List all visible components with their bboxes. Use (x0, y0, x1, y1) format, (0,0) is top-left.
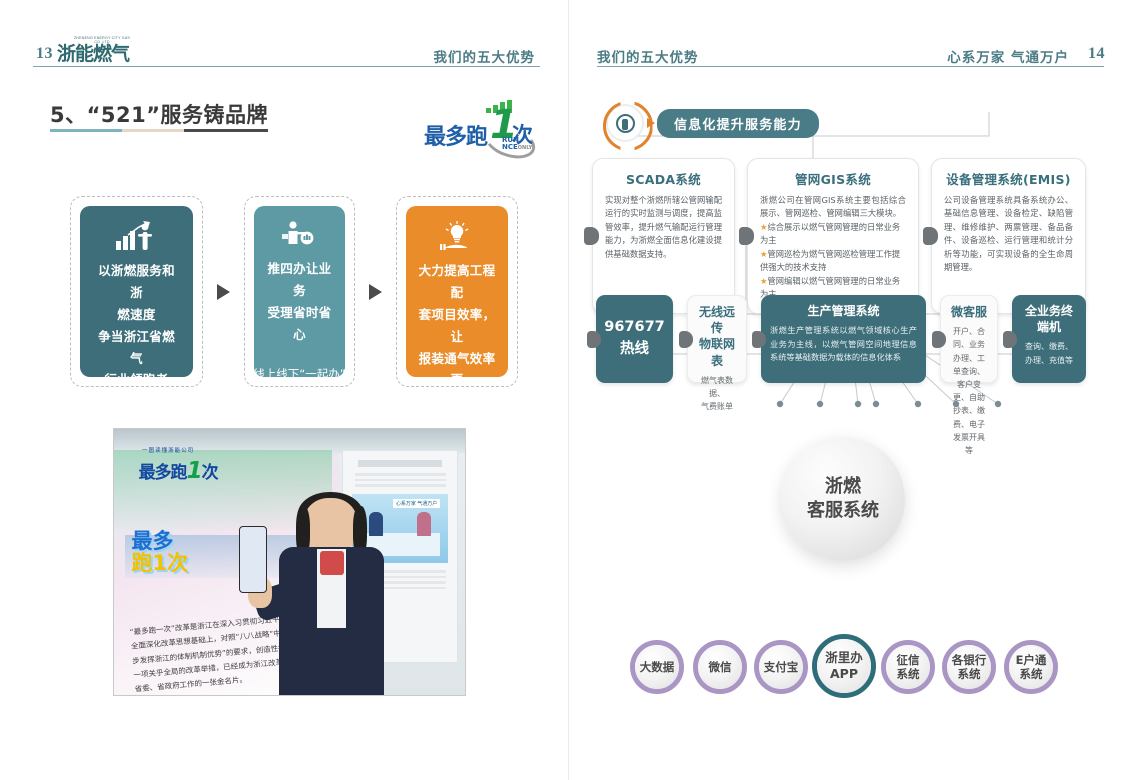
leaf-node-ehutong-label: E户通 系统 (1016, 653, 1047, 682)
card-tab-icon (923, 227, 938, 245)
hub-circle: 浙燃 客服系统 (781, 437, 905, 561)
card-tab-icon (1003, 331, 1017, 348)
mid-card-terminal-body: 查询、缴费、 办理、充值等 (1021, 340, 1077, 366)
iot-title-line2: 物联网表 (697, 336, 737, 368)
hub-line-2: 客服系统 (807, 500, 879, 521)
iot-body-line2: 气费账单 (701, 402, 733, 411)
service-person-icon (280, 220, 320, 250)
photo-staff-person (272, 498, 391, 695)
gis-bullet-2: 管网巡检为燃气管网巡检管理工作提供强大的技术支持 (760, 249, 900, 272)
leaf-node-bigdata-inner: 大数据 (635, 645, 679, 689)
hub-line-1: 浙燃 (825, 476, 861, 497)
mid-card-production[interactable]: 生产管理系统 浙燃生产管理系统以燃气领域核心生产业务为主线，以燃气管网空间地理信… (761, 295, 926, 383)
card-tab-icon (584, 227, 599, 245)
leaf-node-zhelib[interactable]: 浙里办 APP (812, 634, 876, 698)
mid-card-terminal-title: 全业务终端机 (1021, 303, 1077, 335)
card-1-head-line-3: 争当浙江省燃气 (92, 326, 181, 370)
leaf-node-banks-label: 各银行 系统 (952, 653, 987, 682)
arrow-2-icon (369, 284, 382, 300)
photo-banner-ci: 次 (202, 463, 218, 483)
leaf-node-alipay[interactable]: 支付宝 (754, 640, 808, 694)
photo-banner2-line1: 最多 (132, 530, 189, 552)
photo-banner-second: 最多 跑1次 (132, 530, 189, 574)
leaf-node-banks-inner: 各银行 系统 (947, 645, 991, 689)
ehutong-line1: E户通 (1016, 653, 1047, 667)
system-card-emis-title: 设备管理系统(EMIS) (944, 169, 1073, 188)
leaf-node-credit[interactable]: 征信 系统 (881, 640, 935, 694)
left-page: 13 ZHENENG ENERGY CITY GAS CO. LTD 浙能燃气 … (0, 0, 568, 780)
leaf-node-zhelib-label: 浙里办 APP (825, 650, 863, 681)
company-logo: ZHENENG ENERGY CITY GAS CO. LTD 浙能燃气 (57, 36, 137, 66)
leaf-node-ehutong[interactable]: E户通 系统 (1004, 640, 1058, 694)
system-card-gis-title: 管网GIS系统 (760, 169, 906, 188)
iot-title-line1: 无线远传 (697, 304, 737, 336)
touch-target-icon (606, 104, 644, 142)
system-card-scada-body: 实现对整个浙燃所辖公管网输配运行的实时监测与调度，提高监管效率，提升燃气输配运行… (605, 194, 722, 261)
zhelib-line2: APP (830, 666, 858, 681)
card-2-body-line-3: 申请通气“马上办” (253, 407, 345, 429)
left-header-title: 我们的五大优势 (434, 46, 536, 66)
advantage-cards: 以浙燃服务和浙 燃速度 争当浙江省燃气 行业领跑者 (70, 196, 518, 387)
arrow-1-icon (217, 284, 230, 300)
mid-card-iot-meter[interactable]: 无线远传 物联网表 燃气表数据、 气费账单 (687, 295, 747, 383)
system-card-gis-bullet: ★综合展示以燃气管网管理的日常业务为主 (760, 221, 906, 248)
left-header-rule (33, 66, 540, 67)
mid-card-hotline[interactable]: 967677 热线 (596, 295, 673, 383)
iot-body-line1: 燃气表数据、 (701, 376, 733, 398)
card-3-head-line-2: 套项目效率，让 (418, 304, 496, 348)
gis-bullet-1: 综合展示以燃气管网管理的日常业务为主 (760, 222, 900, 245)
lightbulb-hand-icon (437, 220, 477, 252)
photo-banner2-line2: 跑1次 (132, 552, 189, 574)
card-2-head-line-1: 推四办让业务 (266, 258, 333, 302)
card-2-heading: 推四办让业务 受理省时省心 (266, 258, 333, 346)
run-once-en: RUN NCEONLY (502, 137, 532, 152)
leaf-node-zhelib-inner: 浙里办 APP (817, 639, 871, 693)
photo-board-line (355, 479, 446, 482)
mid-card-production-title: 生产管理系统 (770, 303, 917, 319)
photo-person-head (303, 498, 358, 553)
terminal-body-line2: 办理、充值等 (1025, 356, 1073, 365)
card-1-head-line-1: 以浙燃服务和浙 (92, 260, 181, 304)
photo-board-person-2 (417, 512, 430, 536)
card-3: 大力提高工程配 套项目效率，让 报装通气效率更 高，着力优化营 商环境 (406, 206, 508, 377)
photo-person-scarf (320, 551, 344, 575)
right-header-rule (597, 66, 1104, 67)
mid-card-production-body: 浙燃生产管理系统以燃气领域核心生产业务为主线，以燃气管网空间地理信息系统等基础数… (770, 324, 917, 365)
photo-banner-one: 1 (187, 458, 202, 484)
section-underline-dark (184, 129, 268, 132)
card-1-head-line-4: 行业领跑者 (92, 369, 181, 391)
right-header-right-title: 心系万家 气通万户 (947, 46, 1069, 66)
system-card-scada-title: SCADA系统 (605, 169, 722, 188)
leaf-node-bigdata-label: 大数据 (640, 660, 675, 674)
credit-line2: 系统 (897, 667, 920, 681)
credit-line1: 征信 (897, 653, 920, 667)
zhelib-line1: 浙里办 (825, 650, 863, 665)
hotline-word: 热线 (604, 339, 665, 361)
photo-board-line (355, 484, 446, 487)
run-once-logo: 最多跑 1 次 RUN NCEONLY (424, 97, 540, 159)
card-3-head-line-1: 大力提高工程配 (418, 260, 496, 304)
card-3-wrapper: 大力提高工程配 套项目效率，让 报装通气效率更 高，着力优化营 商环境 (396, 196, 518, 387)
card-1-wrapper: 以浙燃服务和浙 燃速度 争当浙江省燃气 行业领跑者 (70, 196, 203, 387)
card-1-heading: 以浙燃服务和浙 燃速度 争当浙江省燃气 行业领跑者 (92, 260, 181, 391)
leaf-node-credit-label: 征信 系统 (897, 653, 920, 682)
leaf-node-credit-inner: 征信 系统 (886, 645, 930, 689)
card-2: 推四办让业务 受理省时省心 线上线下“一起办” 业务受理“一证办” 申请通气“马… (254, 206, 345, 377)
system-card-emis[interactable]: 设备管理系统(EMIS) 公司设备管理系统具备系统办公、基础信息管理、设备检定、… (931, 158, 1086, 314)
touch-target-inner-icon (616, 114, 635, 133)
mid-card-wechat-service[interactable]: 微客服 开户、合同、业务办理、工单查询、客户变更、自助抄表、缴费、电子发票开具等 (940, 295, 998, 383)
left-page-number: 13 (36, 45, 53, 63)
promotional-photo: 一图读懂浙能公司 最多跑1次 最多 跑1次 “最多跑一次”改革是浙江在深入习贯彻… (113, 428, 466, 696)
photo-board-pic-caption: 心系万家 气通万户 (393, 499, 440, 508)
mid-card-iot-title: 无线远传 物联网表 (697, 304, 737, 369)
card-1: 以浙燃服务和浙 燃速度 争当浙江省燃气 行业领跑者 (80, 206, 193, 377)
section-title: 5、“521”服务铸品牌 (50, 99, 268, 129)
leaf-node-banks[interactable]: 各银行 系统 (942, 640, 996, 694)
mid-card-wechat-body: 开户、合同、业务办理、工单查询、客户变更、自助抄表、缴费、电子发票开具等 (950, 325, 988, 457)
hub-label: 浙燃 客服系统 (807, 475, 879, 524)
section-underline-teal (50, 129, 122, 132)
banks-line2: 系统 (958, 667, 981, 681)
photo-board-line (355, 473, 446, 476)
terminal-body-line1: 查询、缴费、 (1025, 342, 1073, 351)
badge-label: 信息化提升服务能力 (657, 109, 819, 138)
photo-banner-tag: 一图读懂浙能公司 (142, 446, 194, 454)
mid-card-iot-body: 燃气表数据、 气费账单 (697, 374, 737, 414)
photo-board-title (358, 460, 442, 467)
system-card-gis-body: 浙燃公司在管网GIS系统主要包括综合展示、管网巡检、管网编辑三大模块。 (760, 194, 906, 221)
card-2-head-line-2: 受理省时省心 (266, 302, 333, 346)
card-3-head-line-3: 报装通气效率更 (418, 348, 496, 392)
photo-banner-main: 最多跑 (139, 463, 187, 483)
system-card-emis-body: 公司设备管理系统具备系统办公、基础信息管理、设备检定、缺陷管理、维修维护、两票管… (944, 194, 1073, 275)
leaf-node-alipay-inner: 支付宝 (759, 645, 803, 689)
right-header-left-title: 我们的五大优势 (597, 46, 699, 66)
bar-chart-person-icon (114, 220, 160, 252)
card-1-head-line-2: 燃速度 (92, 304, 181, 326)
mid-systems-row: 967677 热线 无线远传 物联网表 燃气表数据、 气费账单 生产管理系统 浙… (596, 295, 1086, 383)
system-card-scada[interactable]: SCADA系统 实现对整个浙燃所辖公管网输配运行的实时监测与调度，提高监管效率，… (592, 158, 735, 314)
section-badge: 信息化提升服务能力 (606, 104, 819, 142)
card-2-body-line-2: 业务受理“一证办” (253, 385, 345, 407)
top-systems-row: SCADA系统 实现对整个浙燃所辖公管网输配运行的实时监测与调度，提高监管效率，… (592, 158, 1086, 314)
card-tab-icon (932, 331, 946, 348)
leaf-node-ehutong-inner: E户通 系统 (1009, 645, 1053, 689)
company-logo-cn: 浙能燃气 (57, 45, 137, 64)
system-card-gis-bullet: ★管网巡检为燃气管网巡检管理工作提供强大的技术支持 (760, 248, 906, 275)
photo-banner-headline: 最多跑1次 (139, 458, 218, 484)
hotline-number: 967677 (604, 317, 665, 339)
card-tab-icon (587, 331, 601, 348)
system-card-gis[interactable]: 管网GIS系统 浙燃公司在管网GIS系统主要包括综合展示、管网巡检、管网编辑三大… (747, 158, 919, 314)
mid-card-terminal[interactable]: 全业务终端机 查询、缴费、 办理、充值等 (1012, 295, 1086, 383)
leaf-node-wechat-inner: 微信 (698, 645, 742, 689)
mid-card-hotline-label: 967677 热线 (604, 317, 665, 361)
card-tab-icon (679, 331, 693, 348)
section-underline-beige (122, 129, 184, 132)
card-2-body-line-1: 线上线下“一起办” (253, 363, 345, 385)
leaf-node-wechat[interactable]: 微信 (693, 640, 747, 694)
card-tab-icon (752, 331, 766, 348)
card-tab-icon (739, 227, 754, 245)
run-once-en-once: NCE (502, 143, 518, 151)
ehutong-line2: 系统 (1019, 667, 1042, 681)
photo-person-phone (239, 526, 268, 593)
leaf-node-bigdata[interactable]: 大数据 (630, 640, 684, 694)
leaf-node-wechat-label: 微信 (709, 660, 732, 674)
run-once-label: 最多跑 (424, 119, 487, 151)
leaf-node-alipay-label: 支付宝 (764, 660, 799, 674)
run-once-en-only: ONLY (518, 145, 532, 151)
banks-line1: 各银行 (952, 653, 987, 667)
mid-card-wechat-title: 微客服 (950, 304, 988, 320)
card-2-wrapper: 推四办让业务 受理省时省心 线上线下“一起办” 业务受理“一证办” 申请通气“马… (244, 196, 355, 387)
right-page-number: 14 (1088, 45, 1105, 63)
